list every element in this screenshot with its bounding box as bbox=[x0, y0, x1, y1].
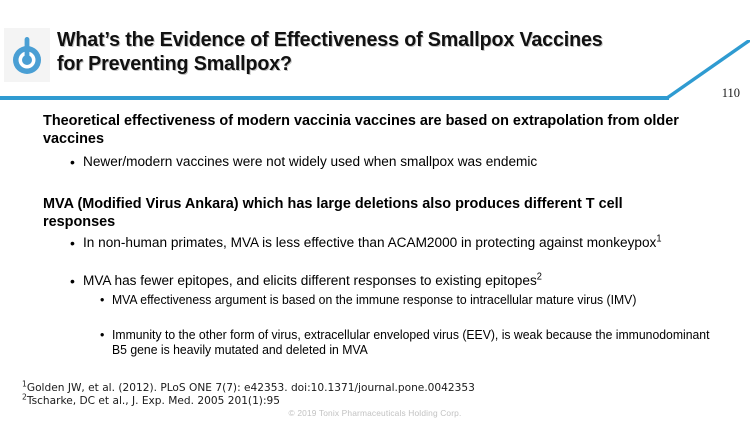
tonix-power-logo-icon bbox=[12, 34, 42, 76]
bullet-marker: • bbox=[70, 154, 83, 169]
footnote-1: 1Golden JW, et al. (2012). PLoS ONE 7(7)… bbox=[22, 382, 475, 395]
bullet-item: • In non-human primates, MVA is less eff… bbox=[70, 235, 715, 252]
header-divider-rule bbox=[0, 96, 665, 100]
bullet-item: • Newer/modern vaccines were not widely … bbox=[70, 154, 730, 171]
body-heading-2-expansion: (Modified Virus Ankara) which has large … bbox=[43, 195, 623, 230]
footnote-1-text: Golden JW, et al. (2012). PLoS ONE 7(7):… bbox=[27, 382, 475, 394]
sub-bullet-item: • MVA effectiveness argument is based on… bbox=[100, 293, 720, 308]
bullet-marker: • bbox=[70, 235, 83, 250]
bullet-item: • MVA has fewer epitopes, and elicits di… bbox=[70, 273, 730, 290]
footnote-2-text: Tscharke, DC et al., J. Exp. Med. 2005 2… bbox=[27, 395, 280, 407]
body-heading-2-abbrev: MVA bbox=[43, 195, 77, 212]
sub-bullet-marker: • bbox=[100, 328, 112, 342]
sub-bullet-item: • Immunity to the other form of virus, e… bbox=[100, 328, 732, 359]
sub-bullet-label: MVA effectiveness argument is based on t… bbox=[112, 293, 702, 308]
sub-bullet-label: Immunity to the other form of virus, ext… bbox=[112, 328, 713, 359]
bullet-label: MVA has fewer epitopes, and elicits diff… bbox=[83, 273, 704, 290]
body-heading-2: MVA (Modified Virus Ankara) which has la… bbox=[43, 195, 689, 232]
footnote-ref: 1 bbox=[656, 233, 661, 244]
slide-title: What’s the Evidence of Effectiveness of … bbox=[57, 28, 633, 76]
footnote-2: 2Tscharke, DC et al., J. Exp. Med. 2005 … bbox=[22, 395, 280, 408]
bullet-text-main: MVA has fewer epitopes, and elicits diff… bbox=[83, 273, 537, 289]
header-diagonal-accent bbox=[655, 40, 750, 100]
bullet-label: Newer/modern vaccines were not widely us… bbox=[83, 154, 704, 171]
bullet-text-main: In non-human primates, MVA is less effec… bbox=[83, 235, 656, 251]
copyright-notice: © 2019 Tonix Pharmaceuticals Holding Cor… bbox=[0, 408, 750, 418]
body-heading-1: Theoretical effectiveness of modern vacc… bbox=[43, 112, 689, 149]
footnote-ref: 2 bbox=[537, 271, 542, 282]
slide-canvas: What’s the Evidence of Effectiveness of … bbox=[0, 0, 750, 421]
bullet-label: In non-human primates, MVA is less effec… bbox=[83, 235, 690, 252]
logo-container bbox=[4, 28, 50, 82]
sub-bullet-marker: • bbox=[100, 293, 112, 307]
bullet-marker: • bbox=[70, 273, 83, 288]
